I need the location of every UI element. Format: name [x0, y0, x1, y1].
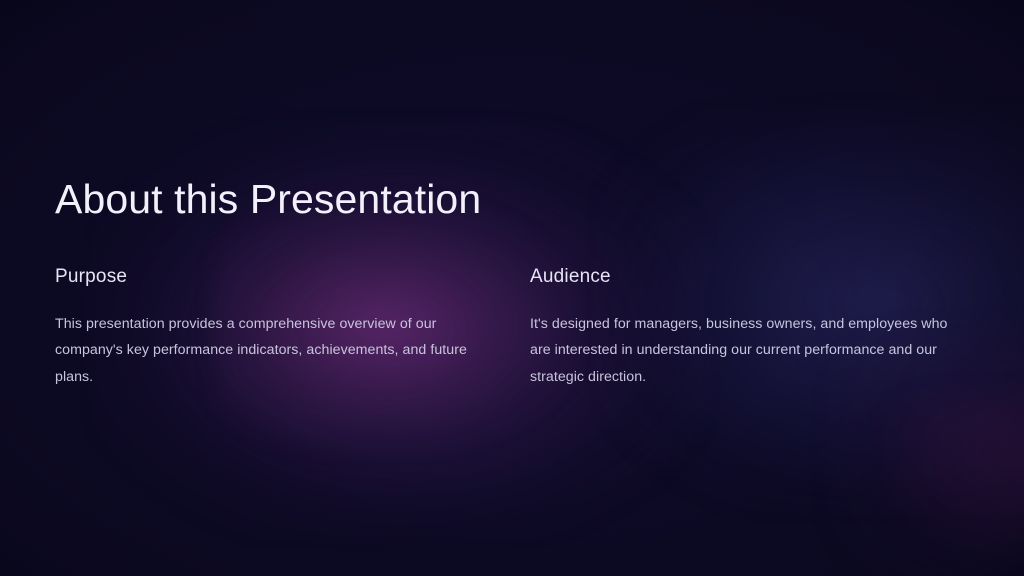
slide-content: About this Presentation Purpose This pre… [0, 0, 1024, 576]
slide-title: About this Presentation [55, 176, 481, 223]
column-body-purpose: This presentation provides a comprehensi… [55, 311, 480, 391]
content-column-audience: Audience It's designed for managers, bus… [530, 266, 958, 390]
column-heading-audience: Audience [530, 266, 958, 289]
content-column-purpose: Purpose This presentation provides a com… [55, 266, 480, 390]
presentation-slide: About this Presentation Purpose This pre… [0, 0, 1024, 576]
column-body-audience: It's designed for managers, business own… [530, 311, 958, 391]
column-heading-purpose: Purpose [55, 266, 480, 289]
